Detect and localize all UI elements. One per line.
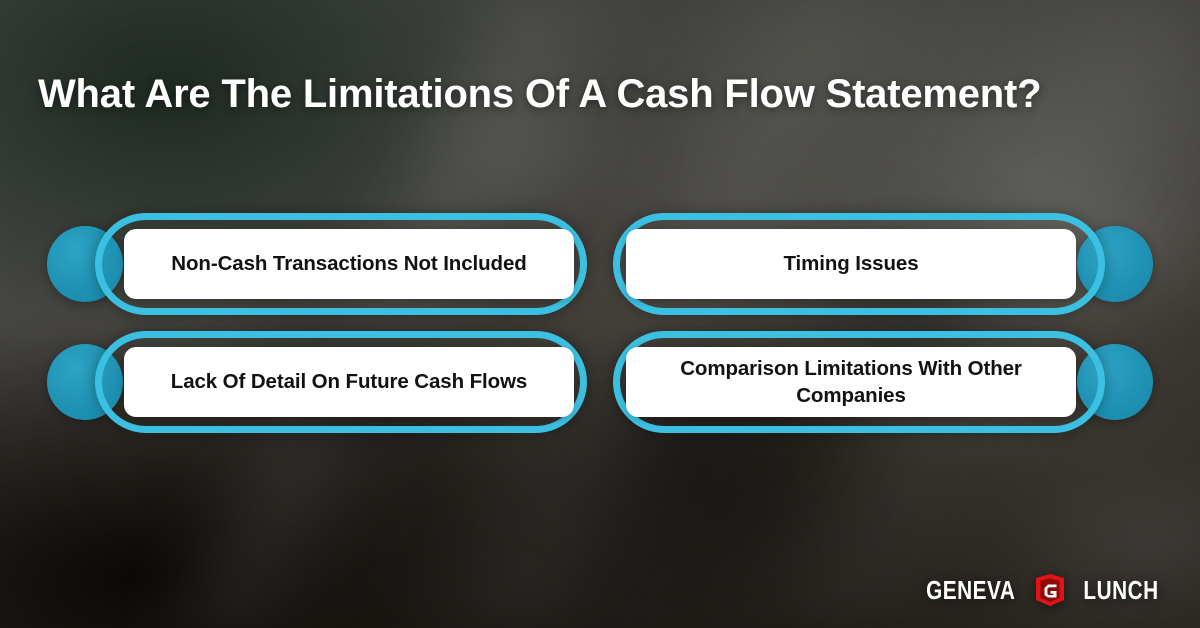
brand-logo: GENEVA LUNCH	[915, 574, 1168, 606]
card-label-text: Lack Of Detail On Future Cash Flows	[171, 368, 527, 395]
card-label-panel: Comparison Limitations With Other Compan…	[626, 347, 1076, 417]
card-label-text: Comparison Limitations With Other Compan…	[644, 355, 1058, 410]
infographic-canvas: What Are The Limitations Of A Cash Flow …	[0, 0, 1200, 628]
limitation-card-non-cash-transactions-not-included[interactable]: Non-Cash Transactions Not Included	[47, 213, 587, 315]
brand-logo-word-left: GENEVA	[926, 575, 1015, 606]
limitations-card-grid: Non-Cash Transactions Not Included Timin…	[0, 0, 1200, 628]
brand-logo-word-right: LUNCH	[1083, 575, 1158, 606]
limitation-card-lack-of-detail-on-future-cash-flows[interactable]: Lack Of Detail On Future Cash Flows	[47, 331, 587, 433]
card-label-panel: Non-Cash Transactions Not Included	[124, 229, 574, 299]
card-label-panel: Lack Of Detail On Future Cash Flows	[124, 347, 574, 417]
card-label-panel: Timing Issues	[626, 229, 1076, 299]
limitation-card-comparison-limitations-with-other-companies[interactable]: Comparison Limitations With Other Compan…	[613, 331, 1153, 433]
card-label-text: Non-Cash Transactions Not Included	[171, 250, 526, 277]
limitation-card-timing-issues[interactable]: Timing Issues	[613, 213, 1153, 315]
geneva-lunch-g-mark-icon	[1035, 574, 1065, 606]
card-label-text: Timing Issues	[783, 250, 918, 277]
